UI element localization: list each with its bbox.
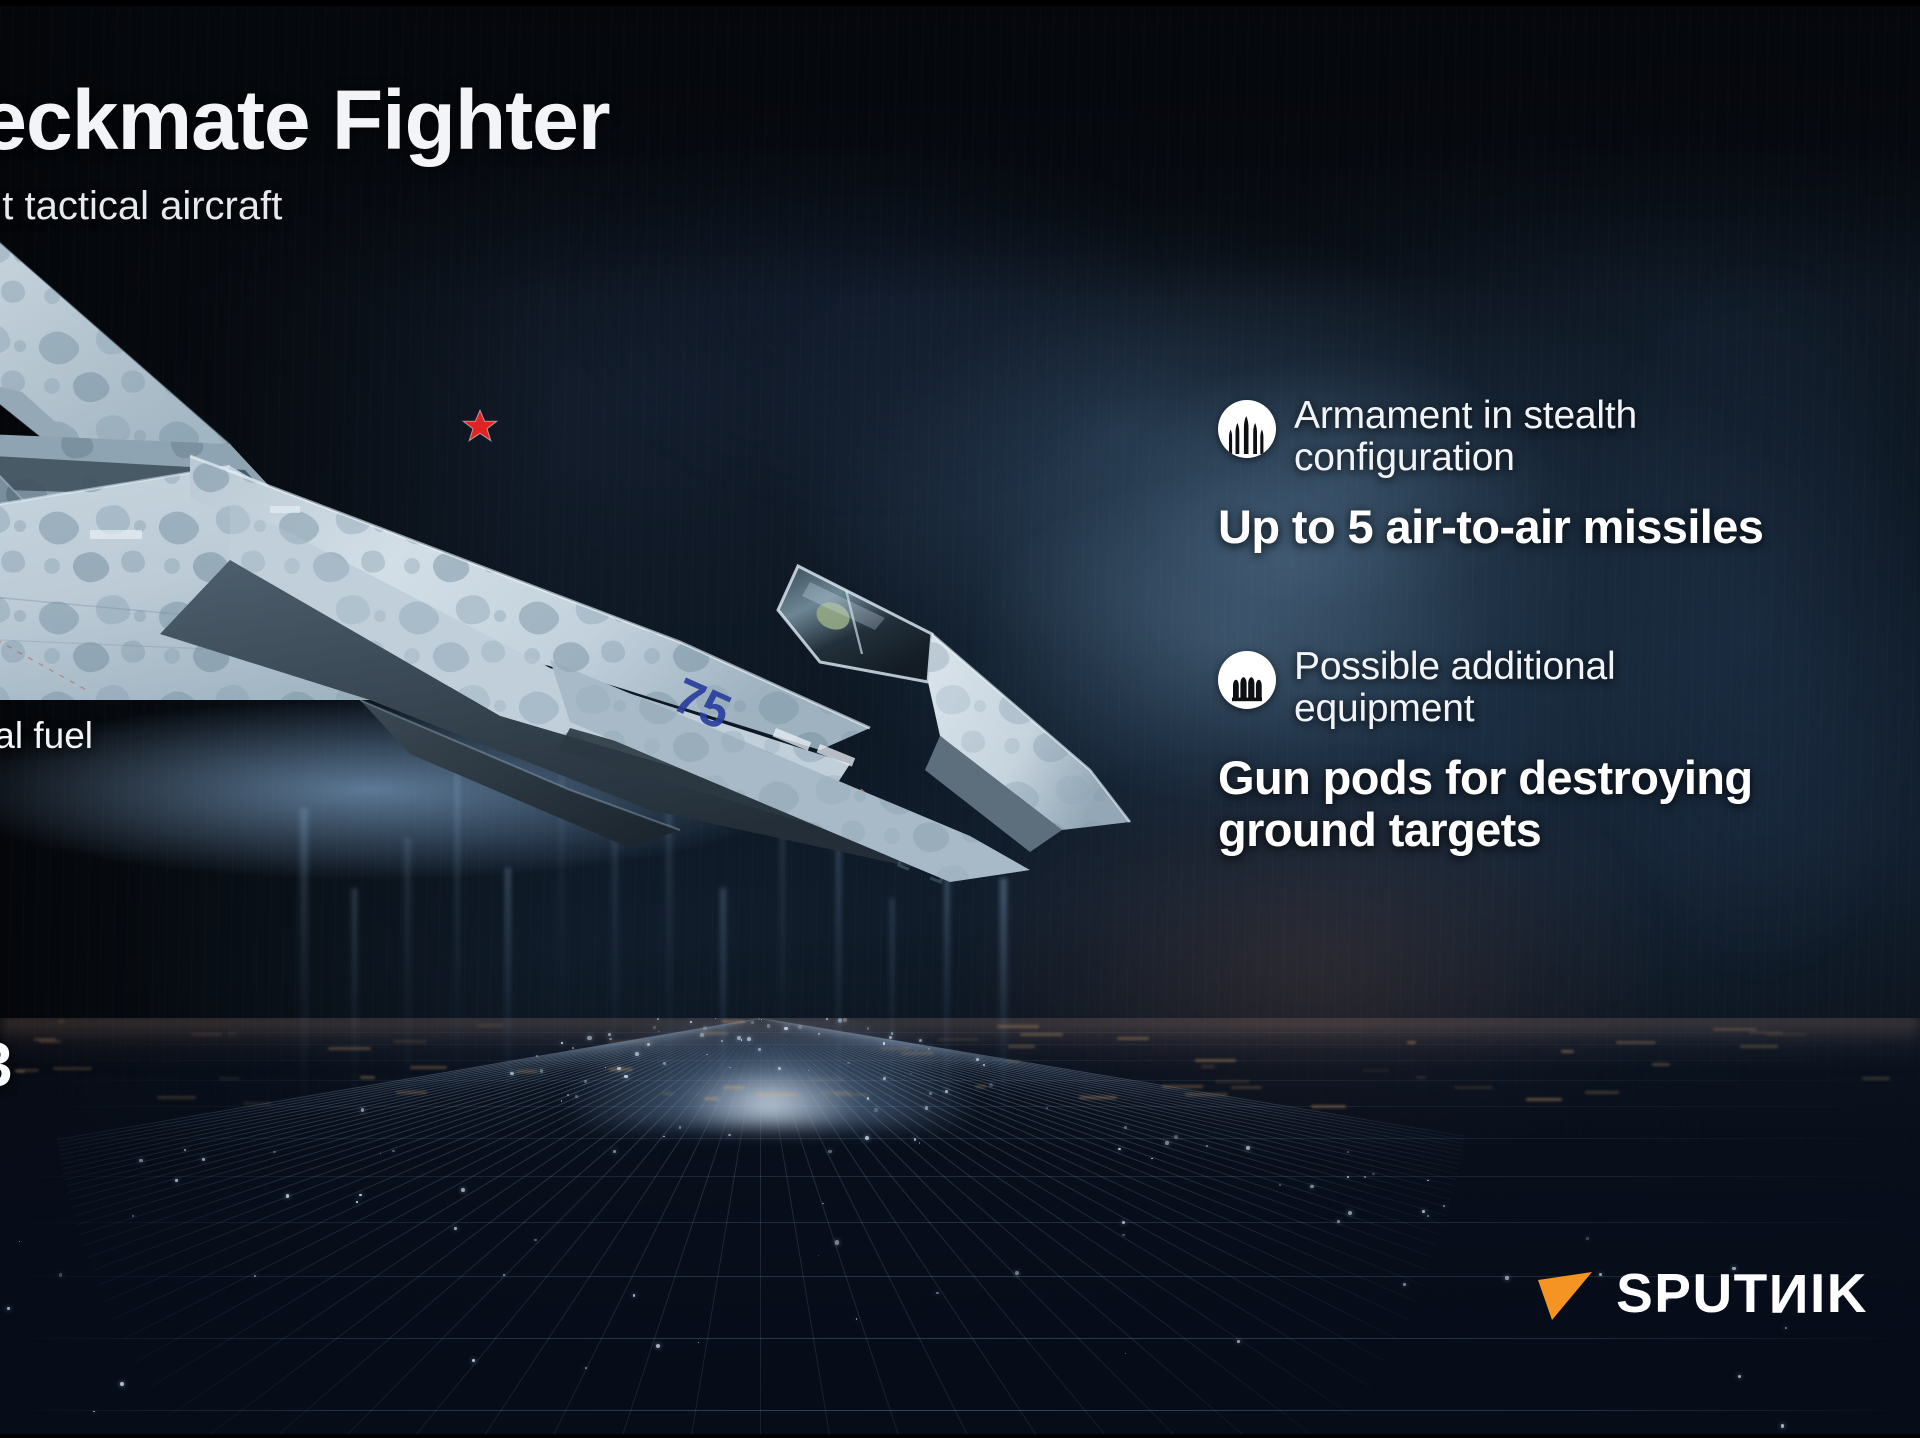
- left-label-external-fuel: xternal fuel: [0, 715, 93, 757]
- city-light: [1738, 1375, 1741, 1378]
- city-light: [883, 1077, 886, 1080]
- distant-building-light: [1311, 1105, 1346, 1108]
- distant-building-light: [157, 1096, 197, 1099]
- city-light: [1427, 1180, 1429, 1182]
- page-subtitle: light tactical aircraft: [0, 184, 282, 229]
- grid-line-horizontal: [0, 1410, 1920, 1411]
- city-grid-plane: [0, 1018, 1920, 1438]
- distant-building-light: [1079, 1096, 1117, 1099]
- grid-line-vertical: [98, 1018, 761, 1285]
- distant-building-light: [1215, 1080, 1250, 1083]
- city-light: [679, 1126, 682, 1129]
- distant-building-light: [360, 1076, 375, 1079]
- city-light: [608, 1033, 611, 1036]
- city-light: [624, 1075, 628, 1079]
- grid-line-horizontal: [0, 1032, 1920, 1033]
- distant-building-light: [1585, 1091, 1619, 1094]
- distant-building-light: [243, 1102, 271, 1105]
- city-light: [1347, 1176, 1349, 1178]
- distant-building-light: [1416, 1076, 1426, 1079]
- city-light: [826, 1018, 828, 1020]
- perspective-grid: [0, 1018, 1920, 1438]
- city-light: [175, 1179, 178, 1182]
- city-light: [1122, 1221, 1125, 1224]
- grid-line-vertical: [760, 1018, 1423, 1285]
- city-light: [392, 1150, 394, 1152]
- city-light: [989, 1083, 993, 1087]
- distant-building-light: [191, 1033, 222, 1036]
- callout-label: Possible additional equipment: [1294, 646, 1778, 730]
- city-light: [1165, 1141, 1169, 1145]
- page-title: heckmate Fighter: [0, 72, 610, 169]
- distant-building-light: [1407, 1041, 1416, 1044]
- distant-building-light: [1561, 1050, 1573, 1053]
- sputnik-logo[interactable]: SPUTNIK: [1532, 1258, 1868, 1328]
- city-light: [822, 1203, 824, 1205]
- letterbox-top: [0, 0, 1920, 6]
- distant-building-light: [1862, 1077, 1889, 1080]
- city-light: [472, 1359, 475, 1362]
- city-light: [835, 1240, 839, 1244]
- distant-building-light: [1749, 1031, 1783, 1034]
- callout-additional-equipment: Possible additional equipment Gun pods f…: [1218, 649, 1778, 856]
- city-light: [818, 1033, 820, 1035]
- checkmate-aircraft-illustration: 75: [0, 230, 1100, 930]
- city-light: [865, 1136, 869, 1140]
- nose-section: [925, 634, 1130, 852]
- distant-building-light: [1006, 1060, 1020, 1063]
- distant-building-light: [1454, 1086, 1493, 1089]
- city-light: [698, 1342, 699, 1343]
- city-light: [1122, 1234, 1125, 1237]
- distant-building-light: [58, 1020, 65, 1023]
- missiles-icon: [1218, 400, 1276, 458]
- city-light: [706, 1054, 708, 1056]
- city-light: [461, 1188, 465, 1192]
- sputnik-wordmark: SPUTNIK: [1616, 1266, 1868, 1321]
- distant-building-light: [1362, 1069, 1391, 1072]
- city-light: [361, 1108, 364, 1111]
- city-light: [359, 1194, 362, 1197]
- city-light: [605, 1067, 606, 1068]
- city-light: [120, 1382, 124, 1386]
- city-light: [653, 1026, 657, 1030]
- callout-header: Possible additional equipment: [1218, 649, 1778, 730]
- distant-building-light: [1526, 1098, 1562, 1101]
- distant-building-light: [1201, 1065, 1216, 1068]
- city-light: [575, 1095, 579, 1099]
- grid-line-horizontal: [0, 1106, 1920, 1107]
- city-light: [19, 1241, 20, 1242]
- city-light: [1125, 1353, 1126, 1354]
- city-light: [1174, 1135, 1178, 1139]
- distant-building-light: [16, 1070, 25, 1073]
- distant-building-light: [328, 1047, 371, 1050]
- distant-building-light: [1616, 1041, 1656, 1044]
- city-light: [1427, 1215, 1429, 1217]
- grid-line-vertical: [644, 1018, 761, 1438]
- city-light: [1781, 1424, 1785, 1428]
- distant-building-light: [1195, 1059, 1236, 1062]
- city-light: [1246, 1146, 1250, 1150]
- city-light: [767, 1024, 770, 1027]
- city-light: [1151, 1158, 1152, 1159]
- distant-building-light: [1185, 1093, 1228, 1096]
- city-light: [587, 1036, 591, 1040]
- city-light: [874, 1108, 878, 1112]
- grid-line-horizontal: [0, 1080, 1920, 1081]
- city-light: [867, 1027, 870, 1030]
- city-light: [7, 1307, 10, 1310]
- city-light: [818, 1255, 819, 1256]
- city-light: [139, 1159, 143, 1163]
- city-light: [202, 1158, 205, 1161]
- distant-building-light: [1117, 1037, 1148, 1040]
- city-light: [534, 1239, 537, 1242]
- grid-line-vertical: [760, 1018, 877, 1438]
- distant-building-light: [476, 1024, 503, 1027]
- distant-building-light: [1652, 1063, 1670, 1066]
- city-light: [1015, 1271, 1019, 1275]
- city-light: [1237, 1340, 1240, 1343]
- city-light: [1206, 1145, 1208, 1147]
- light-shaft: [890, 898, 894, 1138]
- city-light: [1310, 1185, 1314, 1189]
- city-light: [1124, 1126, 1127, 1129]
- city-light: [1364, 1176, 1366, 1178]
- city-light: [663, 1136, 664, 1137]
- letterbox-bottom: [0, 1434, 1920, 1438]
- city-light: [729, 1067, 730, 1068]
- callout-label: Armament in stealth configuration: [1294, 395, 1778, 479]
- city-light: [728, 1134, 730, 1136]
- grid-line-vertical: [760, 1018, 1398, 1340]
- distant-building-light: [1020, 1033, 1063, 1036]
- city-light: [761, 1019, 762, 1020]
- distant-building-light: [410, 1066, 447, 1069]
- city-light: [585, 1367, 587, 1369]
- distant-building-light: [901, 1052, 935, 1055]
- grid-line-horizontal: [0, 1176, 1920, 1177]
- city-light: [613, 1150, 616, 1153]
- city-light: [976, 1058, 979, 1061]
- city-light: [1118, 1148, 1121, 1151]
- city-light: [657, 1018, 659, 1020]
- city-light: [856, 1318, 857, 1319]
- city-light: [286, 1194, 290, 1198]
- red-star-fuselage: [463, 410, 497, 440]
- grid-line-vertical: [74, 1018, 760, 1216]
- distant-building-light: [34, 1038, 56, 1041]
- city-light: [356, 1201, 358, 1203]
- city-light: [919, 1142, 921, 1144]
- distant-building-light: [881, 1047, 911, 1050]
- distant-building-light: [396, 1091, 426, 1094]
- city-light: [847, 1062, 849, 1064]
- city-light: [936, 1292, 939, 1295]
- grid-line-horizontal: [0, 1044, 1920, 1045]
- distant-building-light: [219, 1077, 240, 1080]
- infographic-canvas: 75: [0, 0, 1920, 1438]
- city-light: [1403, 1283, 1406, 1286]
- city-light: [59, 1273, 62, 1276]
- city-light: [1372, 1173, 1375, 1176]
- callout-list: Armament in stealth configuration Up to …: [1218, 398, 1778, 916]
- city-light: [798, 1025, 802, 1029]
- city-light: [747, 1037, 751, 1041]
- city-light: [715, 1018, 716, 1019]
- distant-building-light: [1713, 1028, 1756, 1031]
- city-light: [929, 1092, 932, 1095]
- city-light: [454, 1227, 457, 1230]
- city-light: [1347, 1151, 1349, 1153]
- grid-line-horizontal: [0, 1138, 1920, 1139]
- sputnik-triangle-icon: [1532, 1258, 1602, 1328]
- grid-line-horizontal: [0, 1060, 1920, 1061]
- gun-pod-icon: [1218, 651, 1276, 709]
- callout-value: Up to 5 air-to-air missiles: [1218, 501, 1778, 553]
- callout-value: Gun pods for destroying ground targets: [1218, 752, 1778, 855]
- city-light: [808, 1070, 809, 1071]
- city-light: [93, 1411, 95, 1413]
- city-light: [983, 1064, 985, 1066]
- distant-building-light: [53, 1067, 93, 1070]
- distant-building-light: [516, 1070, 538, 1073]
- distant-building-light: [704, 1097, 719, 1100]
- city-light: [690, 1021, 692, 1023]
- city-light: [928, 1048, 930, 1050]
- grid-line-horizontal: [0, 1222, 1920, 1223]
- city-light: [1586, 1237, 1589, 1240]
- city-light: [1422, 1210, 1425, 1213]
- distant-building-light: [1008, 1045, 1035, 1048]
- city-light: [633, 1294, 635, 1296]
- city-light: [273, 1151, 276, 1154]
- city-light: [843, 1018, 847, 1022]
- distant-building-light: [228, 1032, 236, 1035]
- distant-building-light: [1231, 1086, 1262, 1089]
- city-light: [919, 1039, 922, 1042]
- city-light: [828, 1150, 832, 1154]
- city-light: [656, 1344, 660, 1348]
- city-light: [737, 1036, 741, 1040]
- grid-line-vertical: [760, 1018, 1437, 1246]
- grid-line-vertical: [84, 1018, 761, 1246]
- grid-line-horizontal: [0, 1338, 1920, 1339]
- distant-building-light: [756, 1093, 796, 1096]
- callout-header: Armament in stealth configuration: [1218, 398, 1778, 479]
- city-light: [1443, 1205, 1445, 1207]
- cockpit-canopy: [778, 566, 932, 682]
- city-light: [1348, 1211, 1352, 1215]
- city-light: [914, 1138, 917, 1141]
- callout-armament-stealth: Armament in stealth configuration Up to …: [1218, 398, 1778, 553]
- distant-building-light: [975, 1085, 986, 1088]
- left-label-number: 3: [0, 1030, 12, 1101]
- distant-building-light: [1740, 1045, 1778, 1048]
- distant-building-light: [1162, 1085, 1203, 1088]
- city-light: [1505, 1276, 1508, 1279]
- grid-line-vertical: [760, 1018, 761, 1438]
